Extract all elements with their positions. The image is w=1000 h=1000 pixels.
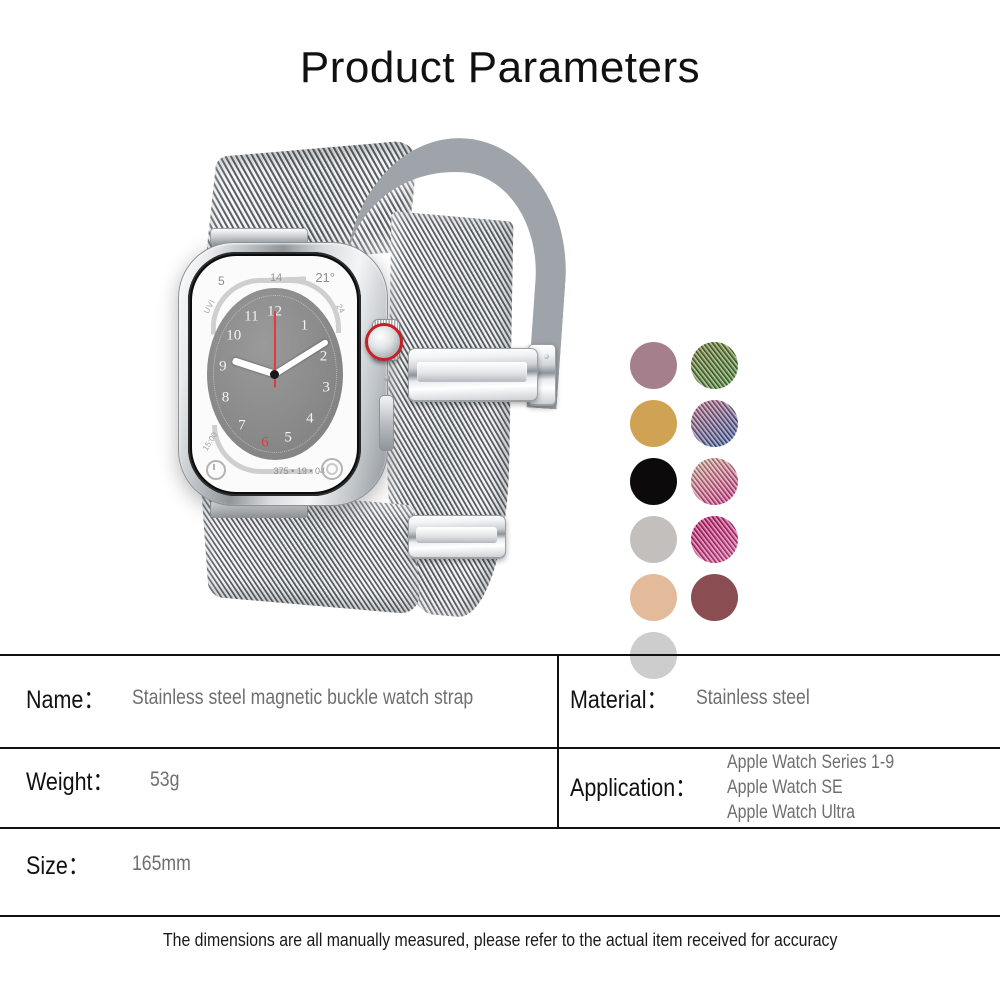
watch-assembly: 5 14 21° UVI 24 15:00 375 • 19 • 04 12 1… xyxy=(150,130,600,630)
product-image: 5 14 21° UVI 24 15:00 375 • 19 • 04 12 1… xyxy=(0,120,1000,650)
color-swatch-olive-green[interactable] xyxy=(691,342,738,389)
spec-label-size: Size： xyxy=(26,846,89,882)
table-column-divider xyxy=(557,654,559,827)
color-swatch-gold[interactable] xyxy=(630,400,677,447)
spec-label-weight: Weight： xyxy=(26,762,114,798)
color-swatch-light-gray[interactable] xyxy=(630,516,677,563)
spec-row-weight: Weight： 53g xyxy=(26,762,185,798)
hour-numeral-4: 4 xyxy=(306,410,314,427)
watch-dial: 12 1 2 3 4 5 6 7 8 9 10 11 xyxy=(207,288,343,460)
watch-bezel: 5 14 21° UVI 24 15:00 375 • 19 • 04 12 1… xyxy=(188,252,361,496)
hour-numeral-7: 7 xyxy=(238,417,246,434)
activity-stats: 375 • 19 • 04 xyxy=(274,466,325,476)
color-swatch-magenta[interactable] xyxy=(691,516,738,563)
spec-value-size: 165mm xyxy=(132,852,191,876)
timer-icon xyxy=(206,460,226,480)
hour-numeral-9: 9 xyxy=(219,359,227,376)
table-rule-mid-1 xyxy=(0,747,1000,749)
hour-numeral-8: 8 xyxy=(222,390,230,407)
color-swatch-maroon[interactable] xyxy=(691,574,738,621)
scale-max-label: 14 xyxy=(270,272,282,284)
color-swatch-pink-blue[interactable] xyxy=(691,400,738,447)
hour-numeral-1: 1 xyxy=(301,317,309,334)
page-title: Product Parameters xyxy=(0,44,1000,92)
magnetic-clasp-lower xyxy=(408,515,506,559)
spec-value-weight: 53g xyxy=(150,768,179,792)
table-rule-mid-2 xyxy=(0,827,1000,829)
application-line-1: Apple Watch Series 1-9 xyxy=(727,750,894,775)
hour-numeral-10: 10 xyxy=(226,328,241,345)
color-swatch-tan[interactable] xyxy=(630,574,677,621)
color-swatch-beige-magenta[interactable] xyxy=(691,458,738,505)
measurement-disclaimer: The dimensions are all manually measured… xyxy=(0,930,1000,951)
temperature-complication: 21° xyxy=(315,270,335,285)
dial-hub xyxy=(270,370,279,379)
hour-numeral-6: 6 xyxy=(261,434,269,451)
activity-rings-icon xyxy=(321,458,343,480)
spec-value-application: Apple Watch Series 1-9 Apple Watch SE Ap… xyxy=(727,750,894,825)
spec-row-application: Application： Apple Watch Series 1-9 Appl… xyxy=(570,750,926,825)
hour-numeral-2: 2 xyxy=(320,348,328,365)
measurement-disclaimer-text: The dimensions are all manually measured… xyxy=(163,930,837,951)
color-swatch-mauve[interactable] xyxy=(630,342,677,389)
watch-screen: 5 14 21° UVI 24 15:00 375 • 19 • 04 12 1… xyxy=(192,256,357,492)
hour-numeral-5: 5 xyxy=(284,429,292,446)
spec-value-name: Stainless steel magnetic buckle watch st… xyxy=(132,686,473,710)
spec-label-application: Application： xyxy=(570,750,697,804)
application-line-2: Apple Watch SE xyxy=(727,775,894,800)
color-swatch-grid xyxy=(628,340,758,670)
color-swatch-black[interactable] xyxy=(630,458,677,505)
magnetic-clasp-main xyxy=(408,348,538,402)
digital-crown-ring xyxy=(365,323,403,361)
watch-case: 5 14 21° UVI 24 15:00 375 • 19 • 04 12 1… xyxy=(178,242,388,506)
spec-row-name: Name： Stainless steel magnetic buckle wa… xyxy=(26,680,538,716)
spec-label-material: Material： xyxy=(570,680,668,716)
hour-numeral-11: 11 xyxy=(244,309,258,326)
microphone-icon xyxy=(384,375,390,381)
uvi-value: 5 xyxy=(218,274,225,288)
hour-numeral-3: 3 xyxy=(322,379,330,396)
spec-value-material: Stainless steel xyxy=(696,686,810,710)
spec-row-material: Material： Stainless steel xyxy=(570,680,831,716)
side-button xyxy=(379,395,394,451)
spec-label-name: Name： xyxy=(26,680,105,716)
table-rule-bottom xyxy=(0,915,1000,917)
application-line-3: Apple Watch Ultra xyxy=(727,800,894,825)
spec-row-size: Size： 165mm xyxy=(26,846,202,882)
table-rule-top xyxy=(0,654,1000,656)
